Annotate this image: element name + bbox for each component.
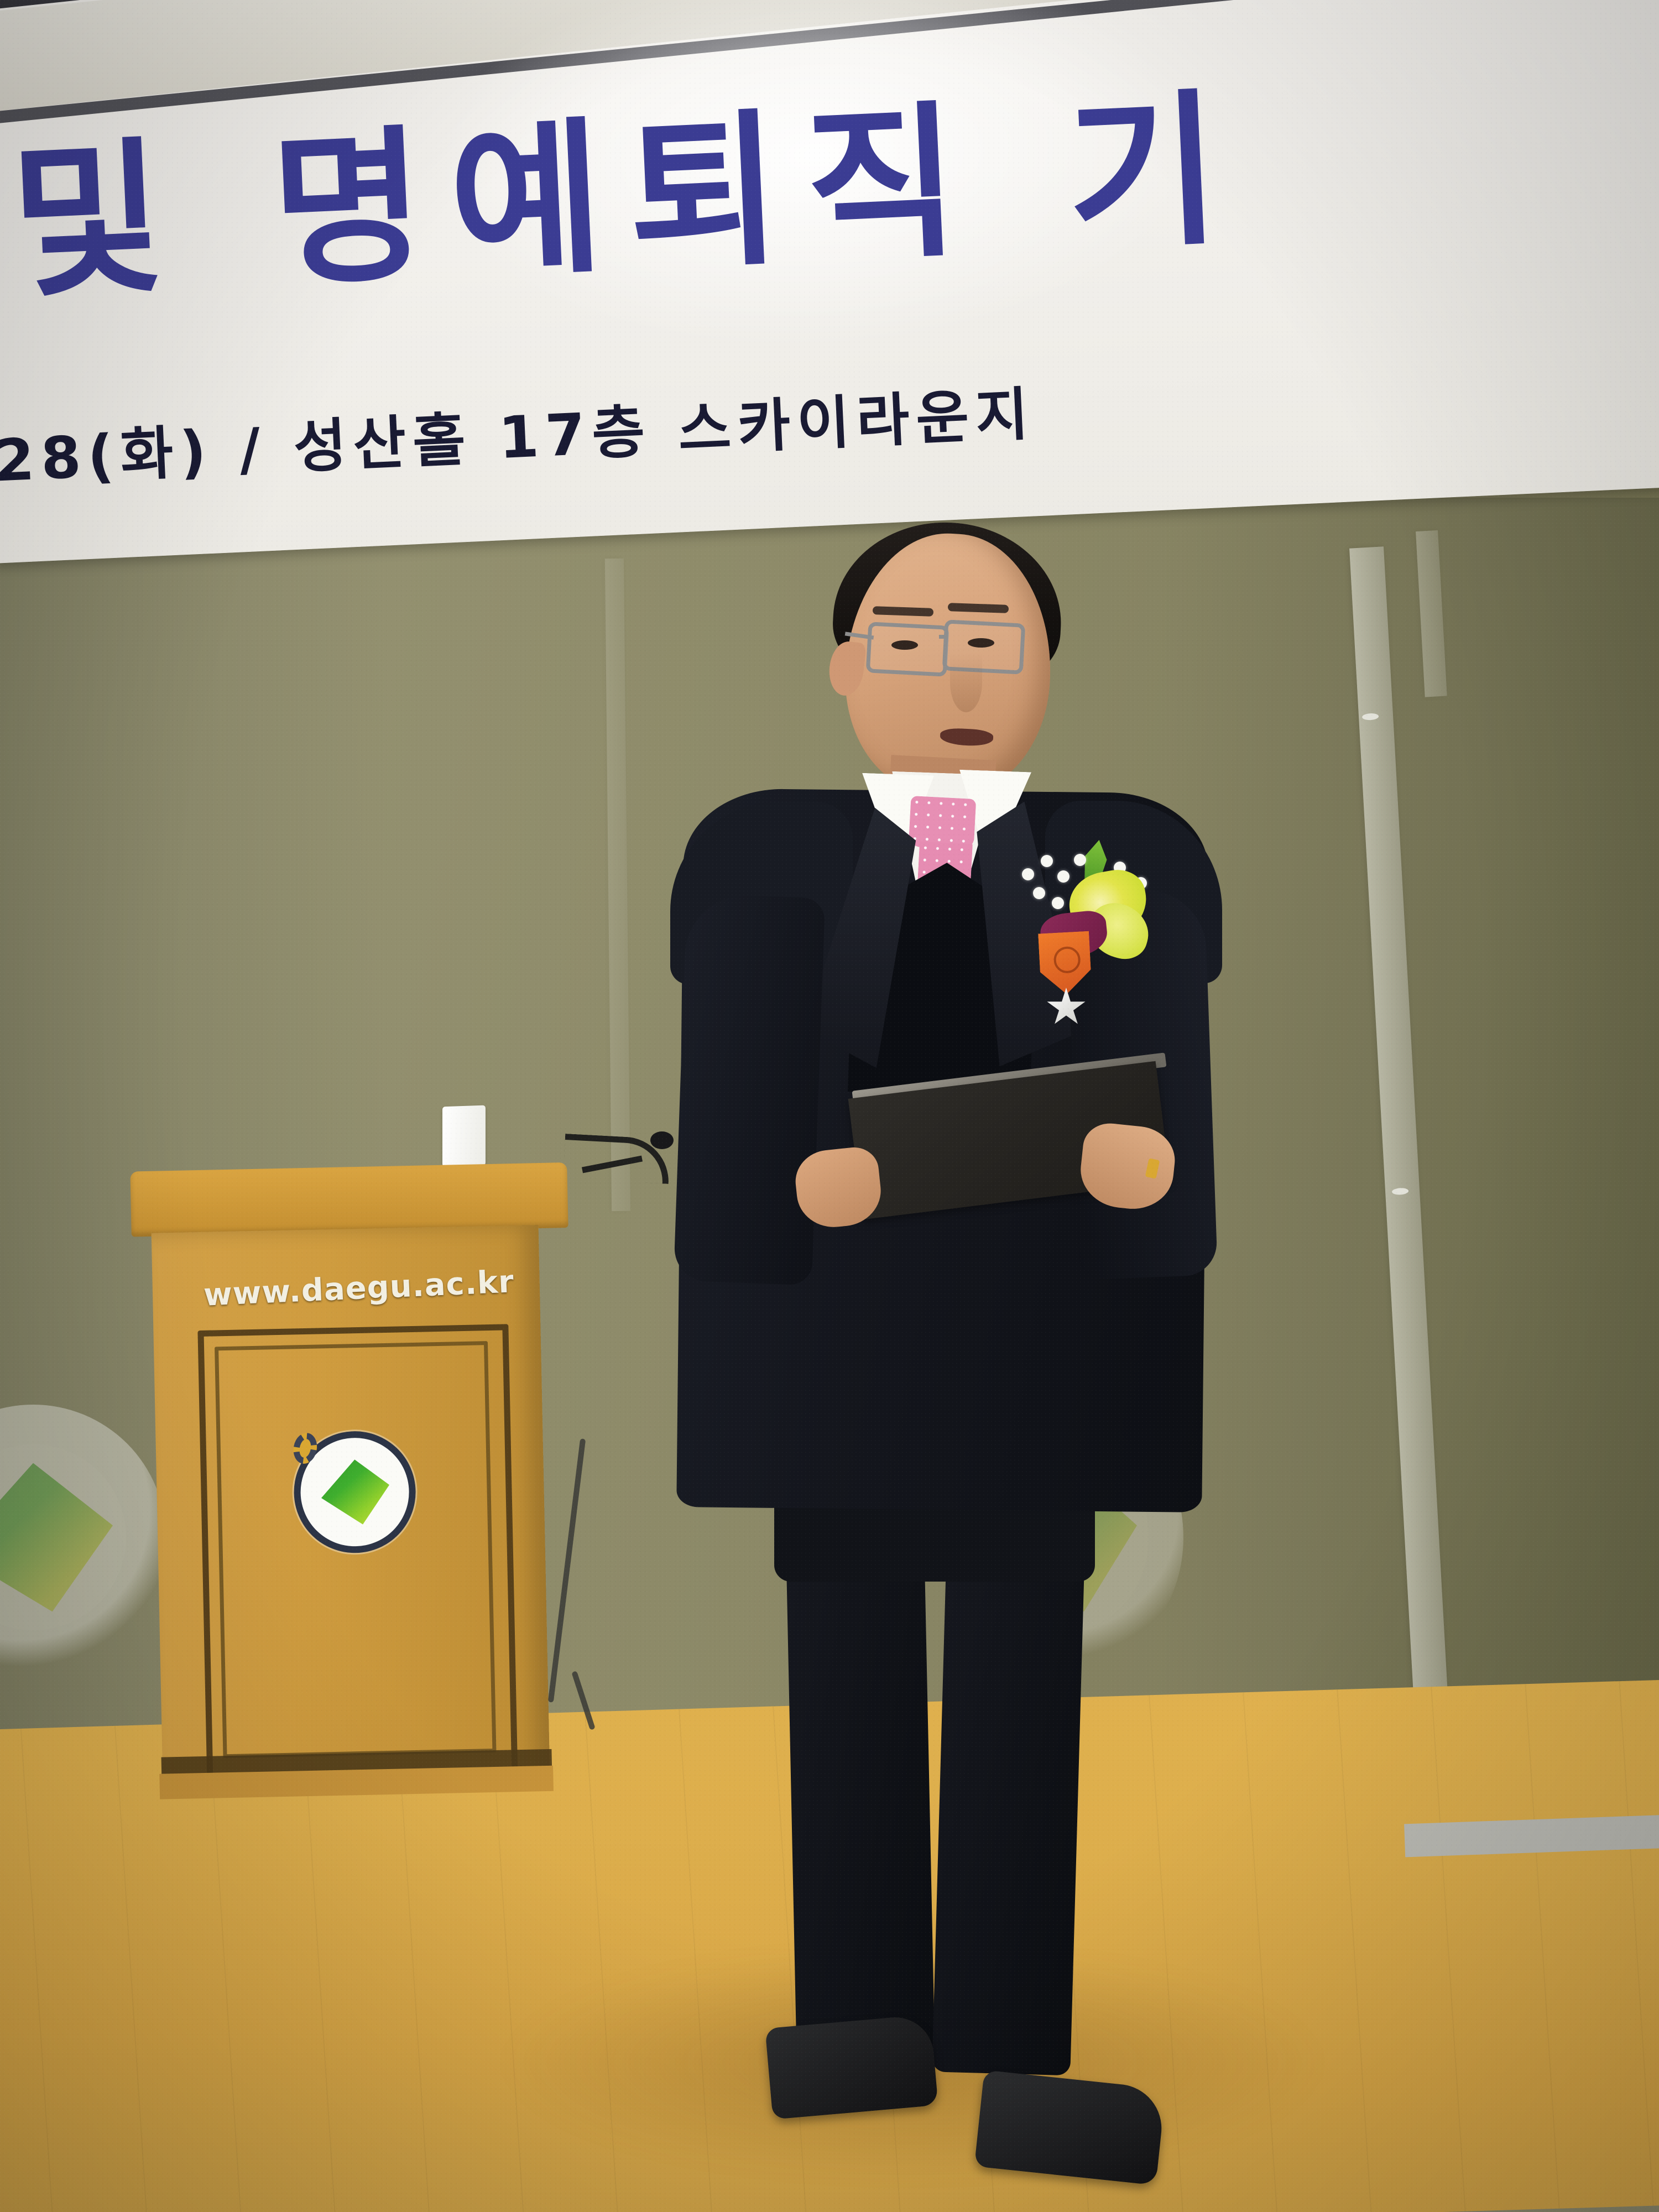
eyeglasses-lens-left xyxy=(866,622,950,677)
babys-breath-floret xyxy=(1033,887,1045,899)
shoe-left xyxy=(765,2014,938,2120)
babys-breath-floret xyxy=(1057,870,1070,883)
babys-breath-floret xyxy=(1022,868,1034,880)
arm-left xyxy=(674,894,825,1285)
medal-ribbon xyxy=(1038,931,1092,996)
shoe-right xyxy=(974,2070,1166,2185)
eyeglasses-bridge xyxy=(939,635,948,639)
nose xyxy=(950,653,982,712)
medal-star-icon xyxy=(1046,988,1086,1027)
babys-breath-floret xyxy=(1074,854,1086,866)
babys-breath-floret xyxy=(1041,855,1053,867)
person-figure xyxy=(0,0,1659,2212)
corsage-boutonniere xyxy=(1016,830,1199,1062)
babys-breath-floret xyxy=(1052,897,1064,909)
ceremony-photograph: 및 명예퇴직 기 28(화) / 성산홀 17층 스카이라운지 www.daeg… xyxy=(0,0,1659,2212)
necktie-knot xyxy=(909,796,977,850)
